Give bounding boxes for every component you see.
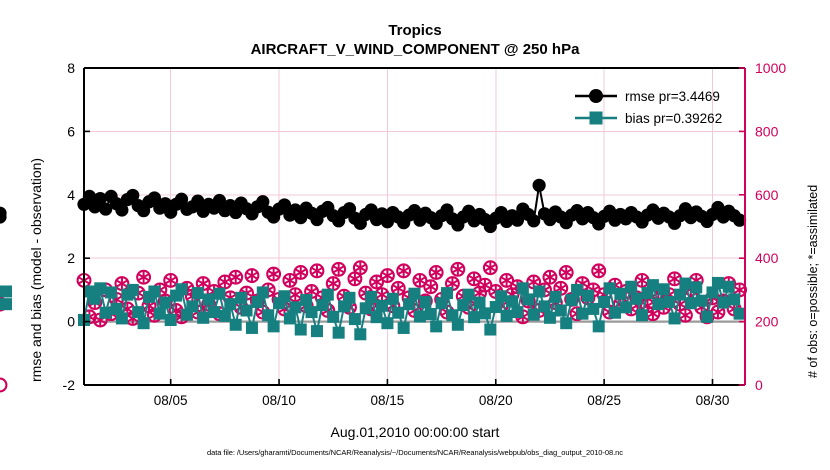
bias-marker [262,309,274,321]
bias-marker [517,282,529,294]
bias-marker [176,283,188,295]
y-tick-label-right: 800 [755,123,779,139]
bias-marker [652,298,664,310]
bias-marker [549,291,561,303]
bias-marker [148,285,160,297]
bias-marker [398,322,410,334]
bias-marker [614,288,626,300]
bias-marker [728,293,740,305]
bias-marker [734,308,746,320]
bias-marker [430,320,442,332]
bias-marker [116,312,128,324]
bias-marker [409,288,421,300]
bias-marker [663,296,675,308]
bias-marker [89,293,101,305]
bias-marker [376,300,388,312]
legend-marker-rmse [589,89,603,103]
figure-canvas: Tropics AIRCRAFT_V_WIND_COMPONENT @ 250 … [0,0,830,470]
bias-marker [343,292,355,304]
bias-marker [674,289,686,301]
bias-marker [306,306,318,318]
bias-marker [539,300,551,312]
bias-marker [322,289,334,301]
bias-marker [723,281,735,293]
bias-marker [311,325,323,337]
bias-marker [685,297,697,309]
bias-marker [609,307,621,319]
bias-marker [295,324,307,336]
y-tick-label-right: 600 [755,187,779,203]
bias-marker [230,319,242,331]
bias-marker [631,293,643,305]
bias-marker [468,311,480,323]
bias-marker [300,294,312,306]
bias-marker [501,310,513,322]
bias-marker [349,313,361,325]
bias-marker [246,322,258,334]
bias-marker [620,301,632,313]
bias-marker [452,319,464,331]
bias-marker [582,290,594,302]
bias-marker [598,296,610,308]
bias-marker [0,298,12,310]
bias-marker [690,281,702,293]
bias-marker [154,308,166,320]
bias-marker [241,305,253,317]
bias-marker [479,307,491,319]
legend-marker-bias [590,112,603,125]
bias-marker [219,310,231,322]
bias-marker [316,299,328,311]
y-tick-label-left: 2 [67,250,75,266]
bias-marker [0,285,12,297]
bias-marker [94,282,106,294]
bias-marker [414,311,426,323]
bias-marker [192,287,204,299]
bias-marker [474,297,486,309]
rmse-marker [533,179,546,192]
bias-marker [636,309,648,321]
bias-marker [278,290,290,302]
y-tick-label-left: 0 [67,314,75,330]
bias-marker [354,328,366,340]
x-tick-label: 08/15 [371,393,405,408]
bias-marker [327,311,339,323]
bias-marker [528,309,540,321]
bias-marker [365,291,377,303]
bias-marker [284,312,296,324]
bias-marker [717,297,729,309]
plot-svg: -2024680200400600800100008/0508/1008/150… [0,0,830,470]
bias-marker [235,292,247,304]
bias-marker [544,312,556,324]
bias-marker [268,320,280,332]
rmse-marker [527,214,540,227]
y-tick-label-left: 6 [67,123,75,139]
bias-marker [658,283,670,295]
bias-marker [571,284,583,296]
obs-possible-marker [0,379,6,392]
bias-marker [208,306,220,318]
bias-marker [138,317,150,329]
bias-marker [696,295,708,307]
y-tick-label-right: 0 [755,377,763,393]
bias-marker [560,317,572,329]
bias-marker [647,279,659,291]
y-tick-label-left: -2 [63,377,76,393]
bias-marker [419,296,431,308]
x-tick-label: 08/30 [696,393,730,408]
bias-marker [506,295,518,307]
bias-marker [360,302,372,314]
legend-label-0: rmse pr=3.4469 [625,89,720,104]
bias-marker [371,311,383,323]
bias-marker [441,287,453,299]
x-tick-label: 08/20 [479,393,513,408]
bias-marker [522,293,534,305]
bias-marker [484,324,496,336]
bias-marker [625,281,637,293]
data-file-caption: data file: /Users/gharamti/Documents/NCA… [0,448,830,457]
bias-marker [533,285,545,297]
bias-marker [289,301,301,313]
bias-marker [186,300,198,312]
bias-marker [712,277,724,289]
bias-marker [213,288,225,300]
bias-marker [490,301,502,313]
y-tick-label-left: 4 [67,187,75,203]
x-tick-label: 08/25 [587,393,621,408]
bias-marker [495,290,507,302]
bias-marker [257,286,269,298]
bias-marker [593,320,605,332]
x-tick-label: 08/05 [154,393,188,408]
y-tick-label-right: 400 [755,250,779,266]
bias-marker [197,312,209,324]
y-tick-label-left: 8 [67,60,75,76]
bias-marker [165,314,177,326]
bias-marker [127,284,139,296]
bias-marker [159,297,171,309]
bias-marker [403,298,415,310]
y-tick-label-right: 200 [755,314,779,330]
x-axis-label: Aug.01,2010 00:00:00 start [0,424,830,440]
bias-marker [463,289,475,301]
legend-label-1: bias pr=0.39262 [625,111,722,126]
bias-marker [387,293,399,305]
bias-marker [679,278,691,290]
bias-marker [604,282,616,294]
x-tick-label: 08/10 [262,393,296,408]
bias-marker [511,306,523,318]
bias-marker [132,306,144,318]
bias-marker [457,299,469,311]
bias-marker [105,286,117,298]
bias-marker [555,305,567,317]
bias-marker [203,293,215,305]
bias-marker [701,311,713,323]
bias-marker [576,308,588,320]
bias-marker [333,327,345,339]
bias-marker [587,303,599,315]
bias-marker [381,317,393,329]
bias-marker [224,298,236,310]
bias-marker [425,308,437,320]
y-tick-label-right: 1000 [755,60,786,76]
bias-marker [100,307,112,319]
bias-marker [669,312,681,324]
bias-marker [392,307,404,319]
